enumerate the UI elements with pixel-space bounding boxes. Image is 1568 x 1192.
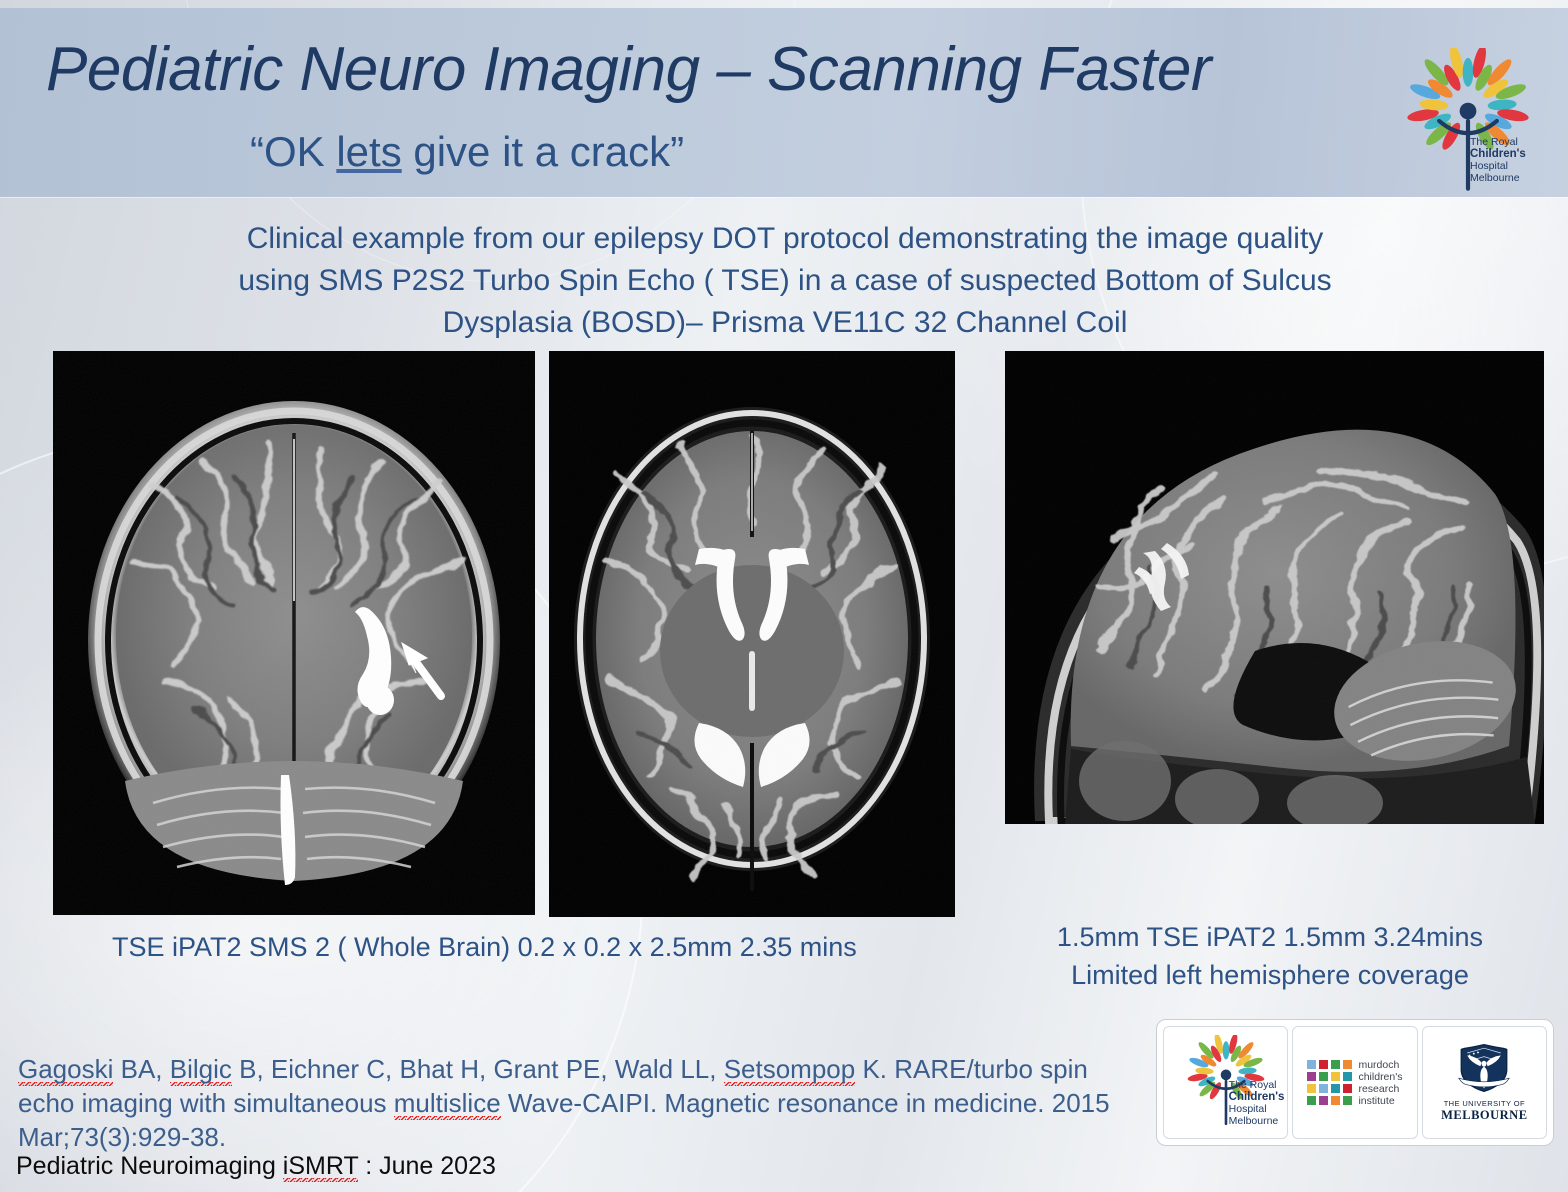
intro-paragraph: Clinical example from our epilepsy DOT p… <box>120 218 1450 344</box>
caption-right: 1.5mm TSE iPAT2 1.5mm 3.24mins Limited l… <box>1040 918 1500 994</box>
sagittal-tse-image <box>1005 351 1544 824</box>
rch-line-4: Melbourne <box>1470 172 1526 184</box>
rch-line-3: Hospital <box>1470 160 1526 172</box>
reference-citation: Gagoski BA, Bilgic B, Eichner C, Bhat H,… <box>18 1052 1128 1154</box>
rch-logo-wordmark: The Royal Children's Hospital Melbourne <box>1229 1079 1285 1127</box>
mcri-logo: murdoch children's research institute <box>1307 1059 1402 1107</box>
mcri-logo-cell: murdoch children's research institute <box>1292 1026 1417 1139</box>
partner-logo-strip: The Royal Children's Hospital Melbourne … <box>1156 1019 1554 1146</box>
intro-line-2: using SMS P2S2 Turbo Spin Echo ( TSE) in… <box>120 260 1450 302</box>
unimelb-logo-cell: THE UNIVERSITY OF MELBOURNE <box>1422 1026 1547 1139</box>
mcri-wordmark: murdoch children's research institute <box>1358 1059 1402 1107</box>
page-subtitle: “OK lets give it a crack” <box>250 128 684 176</box>
coronal-mri-render <box>53 351 535 915</box>
axial-tse-image <box>549 351 955 917</box>
caption-left: TSE iPAT2 SMS 2 ( Whole Brain) 0.2 x 0.2… <box>112 928 857 966</box>
intro-line-1: Clinical example from our epilepsy DOT p… <box>120 218 1450 260</box>
axial-mri-render <box>549 351 955 917</box>
rch-logo: The Royal Children's Hospital Melbourne <box>1392 48 1544 200</box>
rch-strip-line-2: Children's <box>1229 1091 1285 1103</box>
subtitle-suffix: give it a crack” <box>402 128 684 175</box>
intro-line-3: Dysplasia (BOSD)– Prisma VE11C 32 Channe… <box>120 302 1450 344</box>
rch-strip-line-3: Hospital <box>1229 1103 1285 1115</box>
footer-prefix: Pediatric Neuroimaging <box>16 1152 283 1180</box>
caption-right-line-1: 1.5mm TSE iPAT2 1.5mm 3.24mins <box>1040 918 1500 956</box>
citation-seg-5: Setsompop <box>724 1054 856 1086</box>
unimelb-top-line: THE UNIVERSITY OF <box>1441 1099 1527 1108</box>
sagittal-mri-render <box>1005 351 1544 824</box>
subtitle-prefix: “OK <box>250 128 336 175</box>
rch-line-2: Children's <box>1470 148 1526 160</box>
citation-seg-4: B, Eichner C, Bhat H, Grant PE, Wald LL, <box>232 1054 724 1084</box>
footer-suffix: : June 2023 <box>358 1152 496 1180</box>
citation-seg-7: multislice <box>394 1088 501 1120</box>
caption-right-line-2: Limited left hemisphere coverage <box>1040 956 1500 994</box>
mcri-line-1: murdoch <box>1358 1059 1402 1071</box>
footer-note: Pediatric Neuroimaging iSMRT : June 2023 <box>16 1152 496 1181</box>
unimelb-logo: THE UNIVERSITY OF MELBOURNE <box>1441 1042 1527 1123</box>
rch-logo-cell: The Royal Children's Hospital Melbourne <box>1163 1026 1288 1139</box>
mcri-line-3: research <box>1358 1083 1402 1095</box>
rch-logo: The Royal Children's Hospital Melbourne <box>1175 1035 1277 1131</box>
mcri-line-2: children's <box>1358 1071 1402 1083</box>
rch-line-1: The Royal <box>1470 136 1526 148</box>
unimelb-bottom-line: MELBOURNE <box>1441 1108 1527 1123</box>
mcri-line-4: institute <box>1358 1095 1402 1107</box>
footer-misspelled-word: iSMRT <box>283 1152 358 1182</box>
coronal-tse-image <box>53 351 535 915</box>
slide-canvas: Pediatric Neuro Imaging – Scanning Faste… <box>0 0 1568 1192</box>
citation-seg-1: Gagoski <box>18 1054 113 1086</box>
rch-logo-wordmark: The Royal Children's Hospital Melbourne <box>1470 136 1526 184</box>
rch-strip-line-1: The Royal <box>1229 1079 1285 1091</box>
citation-seg-2: BA, <box>113 1054 169 1084</box>
rch-strip-line-4: Melbourne <box>1229 1115 1285 1127</box>
page-title: Pediatric Neuro Imaging – Scanning Faste… <box>46 34 1406 105</box>
citation-seg-3: Bilgic <box>170 1054 232 1086</box>
subtitle-underlined-word: lets <box>336 128 401 175</box>
unimelb-crest-icon <box>1454 1042 1514 1094</box>
mcri-color-grid-icon <box>1307 1060 1352 1105</box>
